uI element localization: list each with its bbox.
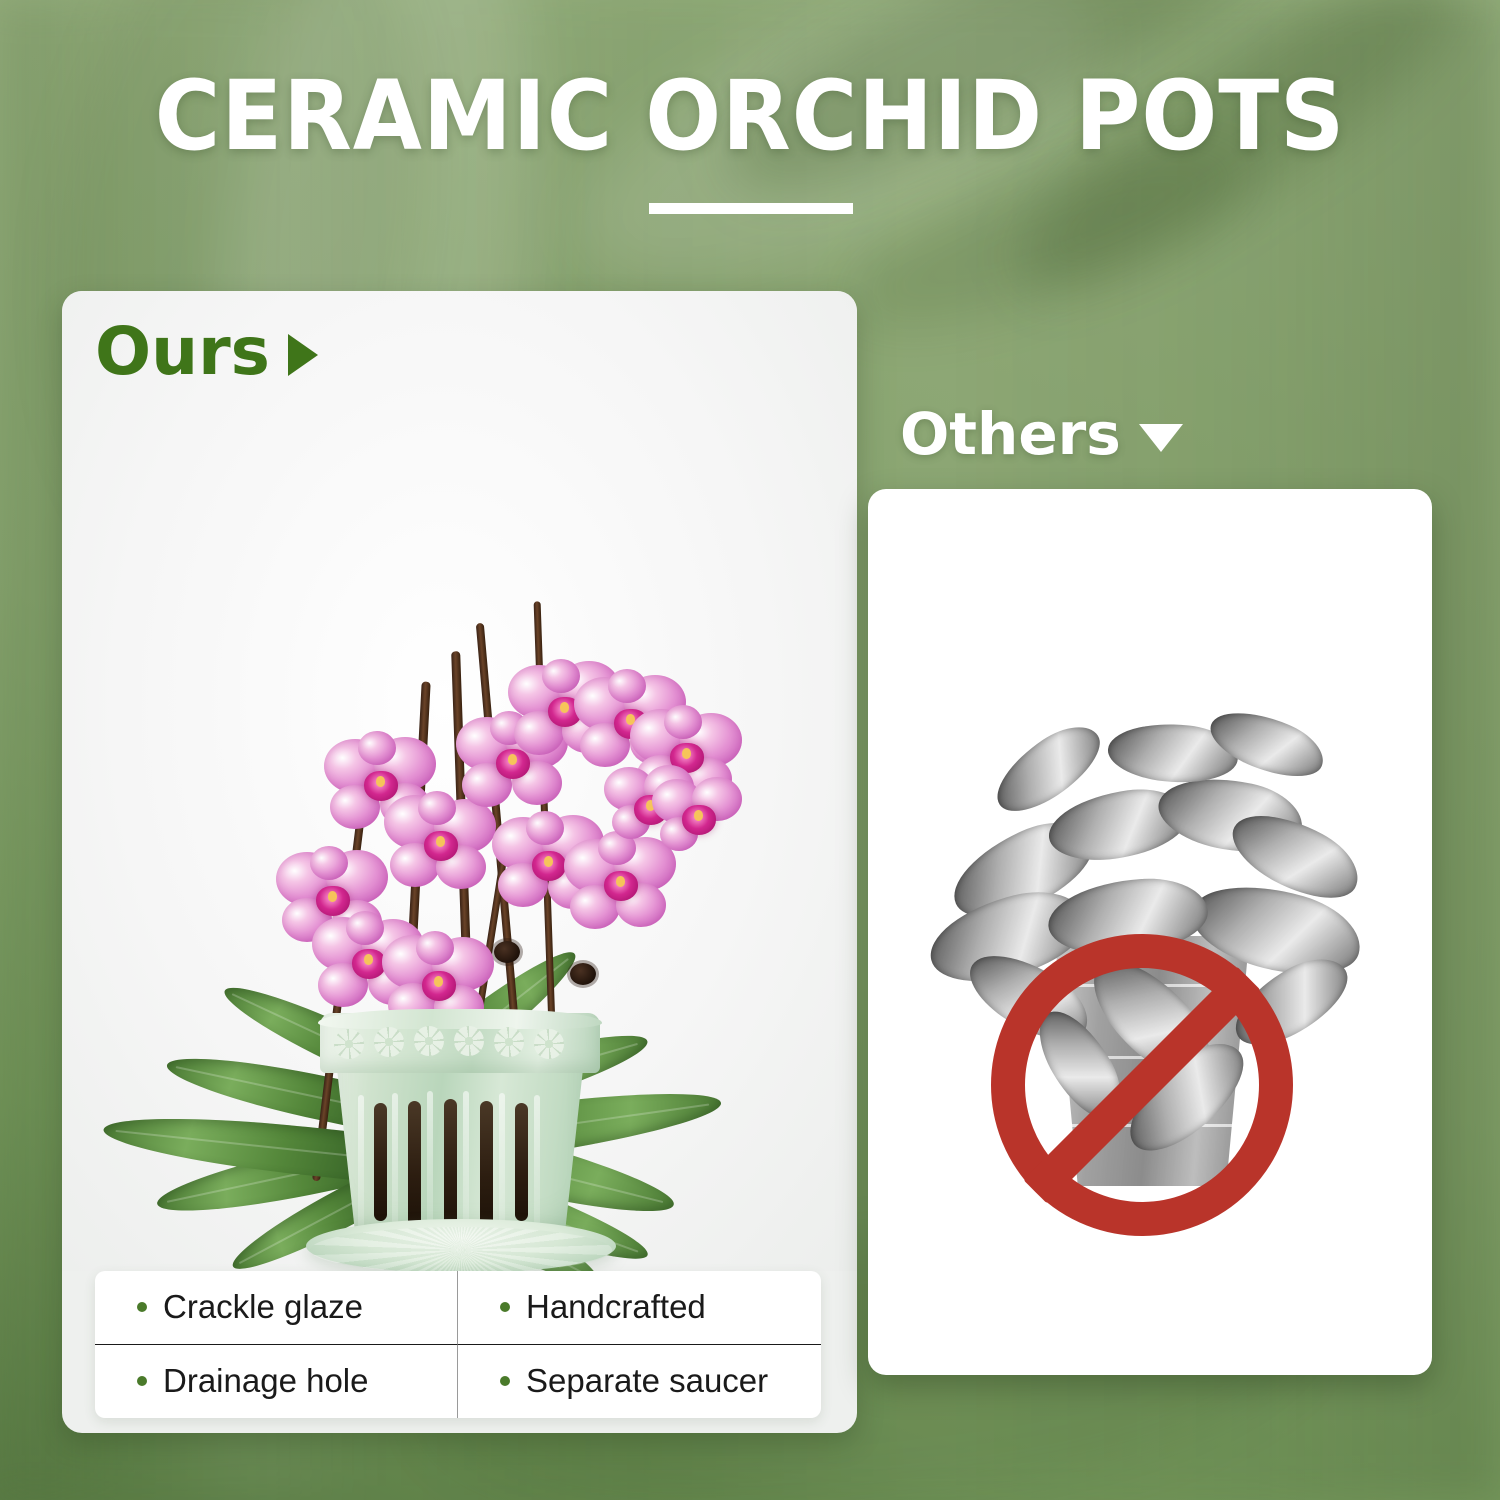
feature-label: Handcrafted (526, 1288, 706, 1326)
ceramic-pot (296, 991, 626, 1271)
daisy-relief-icon (494, 1027, 524, 1057)
triangle-right-icon (288, 334, 318, 376)
page-title: CERAMIC ORCHID POTS (53, 68, 1448, 164)
ours-features-box: Crackle glaze Handcrafted Drainage hole … (95, 1271, 821, 1418)
prohibition-bar (1023, 966, 1261, 1204)
daisy-relief-icon (414, 1026, 444, 1056)
others-card (868, 489, 1432, 1375)
ours-card: Ours (62, 291, 857, 1433)
bullet-icon (500, 1376, 510, 1386)
daisy-relief-icon (454, 1026, 484, 1056)
pot-rim-lip (318, 1009, 602, 1029)
title-underline-rule (649, 203, 853, 214)
feature-item: Drainage hole (95, 1345, 458, 1419)
ours-product-photo (62, 291, 857, 1271)
pot-drainage-slot (444, 1099, 457, 1231)
feature-label: Drainage hole (163, 1362, 368, 1400)
feature-label: Crackle glaze (163, 1288, 363, 1326)
stem-clip (570, 963, 596, 985)
pot-drainage-slot (374, 1103, 387, 1221)
orchid-bloom (652, 771, 772, 881)
pot-rib (499, 1093, 505, 1239)
pot-saucer-scallop (310, 1227, 612, 1271)
ours-label: Ours (95, 319, 270, 385)
daisy-relief-icon (334, 1029, 364, 1059)
feature-item: Handcrafted (458, 1271, 821, 1345)
ours-label-group: Ours (95, 319, 318, 385)
pot-drainage-slot (480, 1101, 493, 1229)
wilted-leaf (1203, 698, 1332, 790)
bullet-icon (500, 1302, 510, 1312)
bullet-icon (137, 1376, 147, 1386)
bullet-icon (137, 1302, 147, 1312)
prohibition-sign-icon (991, 934, 1293, 1236)
daisy-relief-icon (374, 1027, 404, 1057)
pot-drainage-slot (515, 1103, 528, 1221)
feature-label: Separate saucer (526, 1362, 768, 1400)
others-label: Others (900, 405, 1121, 463)
daisy-relief-icon (534, 1029, 564, 1059)
feature-item: Separate saucer (458, 1345, 821, 1419)
pot-rib (392, 1093, 398, 1239)
pot-rib (358, 1095, 364, 1235)
feature-item: Crackle glaze (95, 1271, 458, 1345)
triangle-down-icon (1139, 424, 1183, 452)
pot-drainage-slot (408, 1101, 421, 1227)
pot-rib (534, 1095, 540, 1235)
infographic-root: CERAMIC ORCHID POTS (0, 0, 1500, 1500)
others-label-group: Others (900, 405, 1183, 463)
